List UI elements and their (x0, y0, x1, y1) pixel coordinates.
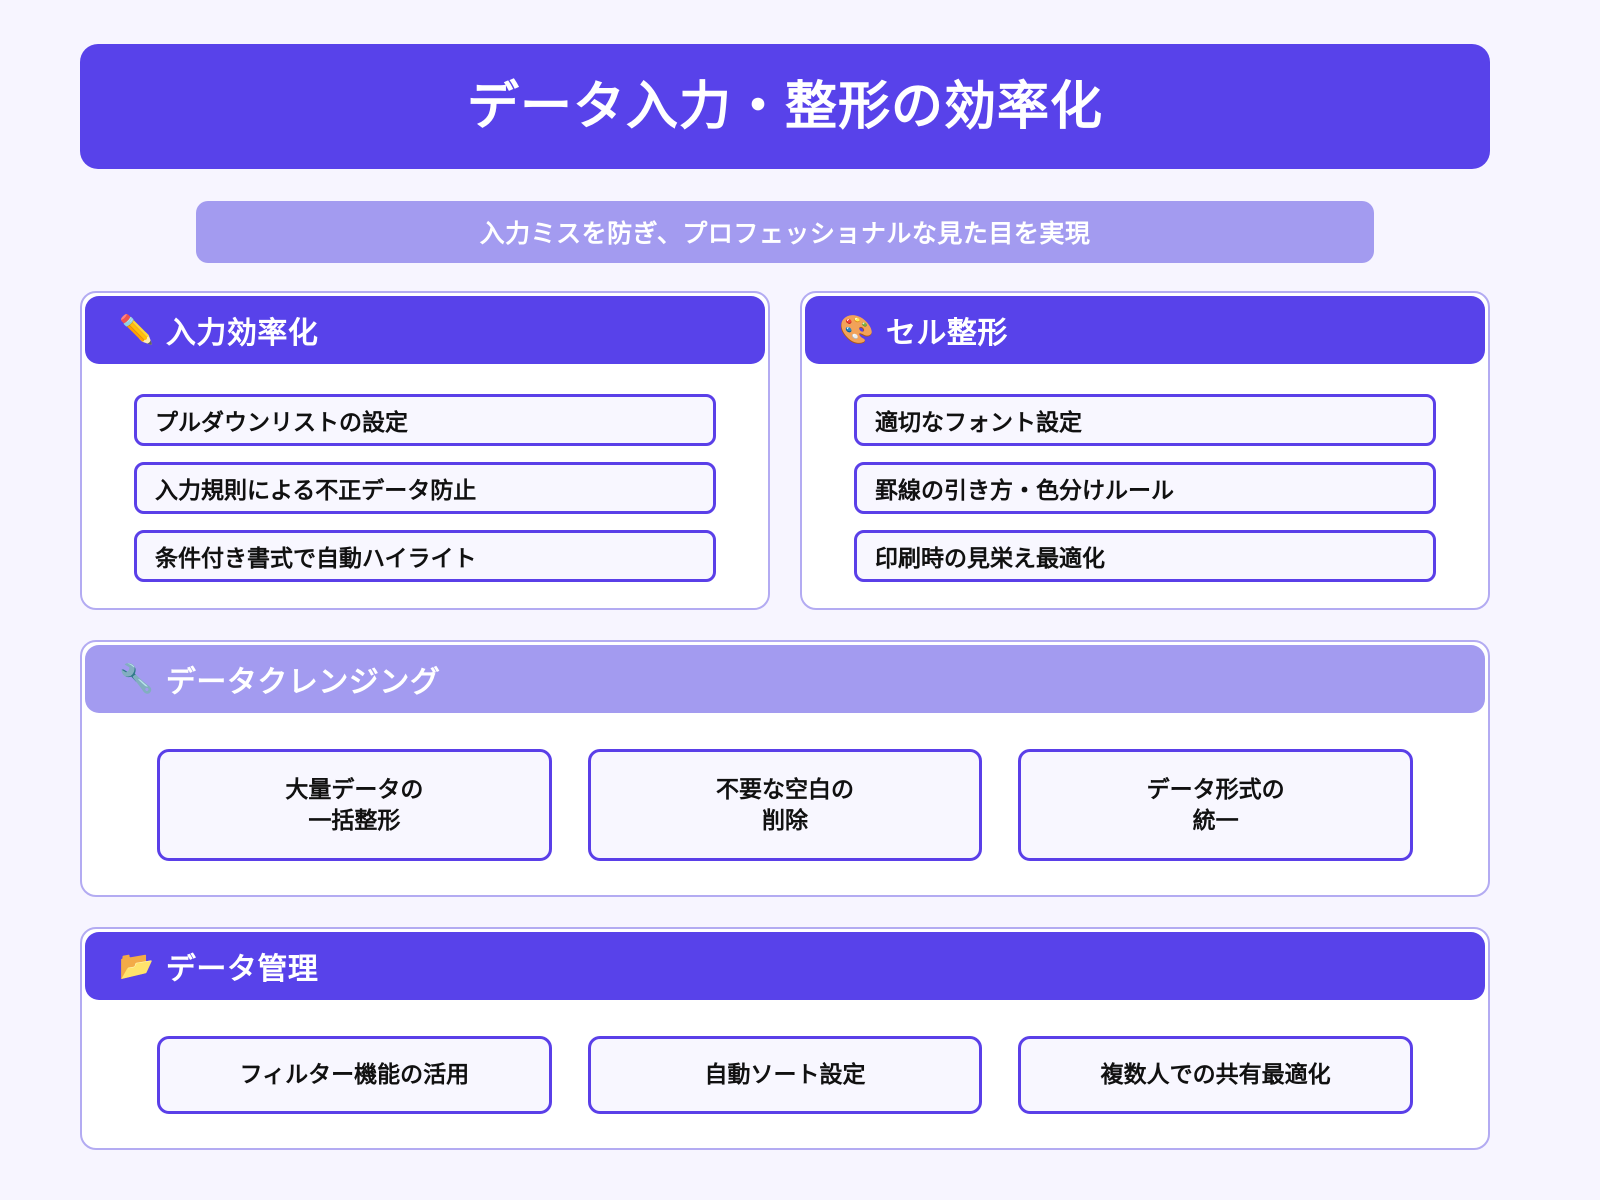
tile-label: フィルター機能の活用 (240, 1059, 470, 1090)
section-body-data-cleansing: 大量データの 一括整形 不要な空白の 削除 データ形式の 統一 (82, 713, 1488, 861)
tile-filter-usage[interactable]: フィルター機能の活用 (157, 1036, 552, 1114)
tile-label: 自動ソート設定 (705, 1059, 866, 1090)
subtitle-banner: 入力ミスを防ぎ、プロフェッショナルな見た目を実現 (196, 201, 1374, 263)
pencil-icon: ✏️ (119, 316, 154, 344)
section-title-data-management: データ管理 (166, 944, 319, 988)
open-folder-icon: 📂 (119, 952, 154, 980)
card-body-cell-formatting: 適切なフォント設定 罫線の引き方・色分けルール 印刷時の見栄え最適化 (802, 364, 1488, 582)
tile-label: データ形式の 統一 (1147, 774, 1285, 836)
tile-remove-whitespace[interactable]: 不要な空白の 削除 (588, 749, 983, 861)
subtitle-wrap: 入力ミスを防ぎ、プロフェッショナルな見た目を実現 (80, 201, 1490, 263)
tile-label: 大量データの 一括整形 (285, 774, 423, 836)
card-cell-formatting: 🎨 セル整形 適切なフォント設定 罫線の引き方・色分けルール 印刷時の見栄え最適… (800, 291, 1490, 610)
card-header-input-efficiency: ✏️ 入力効率化 (85, 296, 765, 364)
card-title-cell-formatting: セル整形 (886, 308, 1008, 352)
tile-unify-format[interactable]: データ形式の 統一 (1018, 749, 1413, 861)
tile-label: 不要な空白の 削除 (716, 774, 854, 836)
tile-bulk-formatting[interactable]: 大量データの 一括整形 (157, 749, 552, 861)
card-title-input-efficiency: 入力効率化 (166, 308, 319, 352)
title-banner: データ入力・整形の効率化 (80, 44, 1490, 169)
wrench-icon: 🔧 (119, 665, 154, 693)
list-item-label: 条件付き書式で自動ハイライト (155, 539, 477, 573)
page-subtitle: 入力ミスを防ぎ、プロフェッショナルな見た目を実現 (480, 214, 1091, 250)
cards-row: ✏️ 入力効率化 プルダウンリストの設定 入力規則による不正データ防止 条件付き… (80, 291, 1490, 610)
palette-icon: 🎨 (839, 316, 874, 344)
list-item[interactable]: 罫線の引き方・色分けルール (854, 462, 1436, 514)
list-item-label: 罫線の引き方・色分けルール (875, 471, 1174, 505)
list-item[interactable]: 印刷時の見栄え最適化 (854, 530, 1436, 582)
section-header-data-management: 📂 データ管理 (85, 932, 1485, 1000)
section-data-management: 📂 データ管理 フィルター機能の活用 自動ソート設定 複数人での共有最適化 (80, 927, 1490, 1150)
section-header-data-cleansing: 🔧 データクレンジング (85, 645, 1485, 713)
card-input-efficiency: ✏️ 入力効率化 プルダウンリストの設定 入力規則による不正データ防止 条件付き… (80, 291, 770, 610)
list-item-label: プルダウンリストの設定 (155, 403, 408, 437)
list-item-label: 入力規則による不正データ防止 (155, 471, 476, 505)
infographic-page: データ入力・整形の効率化 入力ミスを防ぎ、プロフェッショナルな見た目を実現 ✏️… (0, 0, 1600, 1200)
tile-label: 複数人での共有最適化 (1101, 1059, 1331, 1090)
list-item-label: 印刷時の見栄え最適化 (875, 539, 1105, 573)
list-item[interactable]: 適切なフォント設定 (854, 394, 1436, 446)
list-item-label: 適切なフォント設定 (875, 403, 1082, 437)
list-item[interactable]: プルダウンリストの設定 (134, 394, 716, 446)
page-title: データ入力・整形の効率化 (467, 81, 1103, 133)
tile-auto-sort[interactable]: 自動ソート設定 (588, 1036, 983, 1114)
card-body-input-efficiency: プルダウンリストの設定 入力規則による不正データ防止 条件付き書式で自動ハイライ… (82, 364, 768, 582)
list-item[interactable]: 入力規則による不正データ防止 (134, 462, 716, 514)
section-data-cleansing: 🔧 データクレンジング 大量データの 一括整形 不要な空白の 削除 データ形式の… (80, 640, 1490, 897)
card-header-cell-formatting: 🎨 セル整形 (805, 296, 1485, 364)
list-item[interactable]: 条件付き書式で自動ハイライト (134, 530, 716, 582)
section-title-data-cleansing: データクレンジング (166, 657, 441, 701)
section-body-data-management: フィルター機能の活用 自動ソート設定 複数人での共有最適化 (82, 1000, 1488, 1114)
tile-multi-user-sharing[interactable]: 複数人での共有最適化 (1018, 1036, 1413, 1114)
